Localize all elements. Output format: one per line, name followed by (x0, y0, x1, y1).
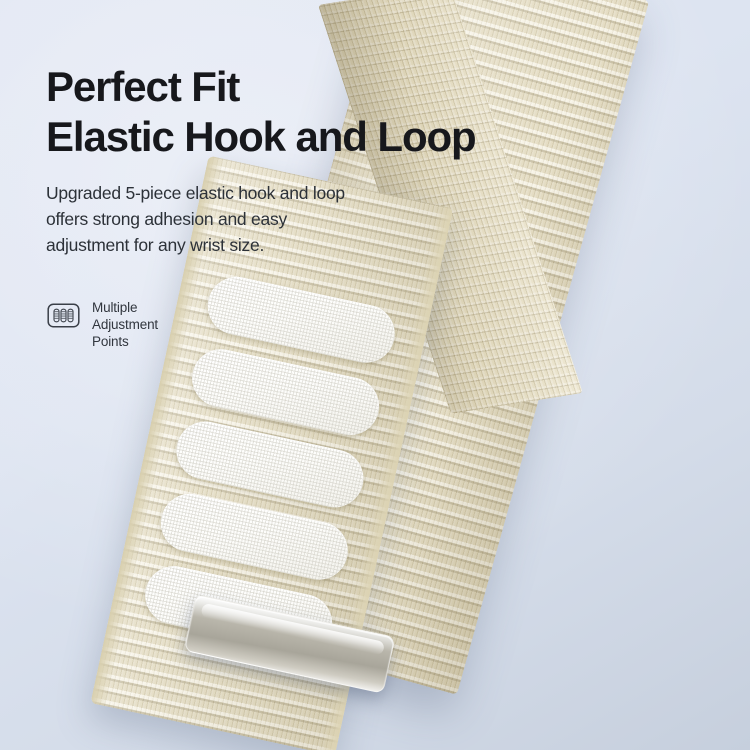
page-title: Perfect Fit Elastic Hook and Loop (46, 62, 516, 162)
body-line-1: Upgraded 5-piece elastic hook and loop (46, 180, 516, 206)
copy-block: Perfect Fit Elastic Hook and Loop Upgrad… (46, 62, 516, 258)
feature-line-1: Multiple (92, 299, 158, 316)
feature-line-3: Points (92, 333, 158, 350)
headline-line-1: Perfect Fit (46, 62, 516, 112)
feature-line-2: Adjustment (92, 316, 158, 333)
product-feature-banner: Perfect Fit Elastic Hook and Loop Upgrad… (0, 0, 750, 750)
body-line-2: offers strong adhesion and easy (46, 206, 516, 232)
body-description: Upgraded 5-piece elastic hook and loop o… (46, 180, 516, 258)
multiple-adjustment-points-icon (46, 298, 81, 333)
body-line-3: adjustment for any wrist size. (46, 232, 516, 258)
headline-line-2: Elastic Hook and Loop (46, 112, 516, 162)
feature-label: Multiple Adjustment Points (92, 298, 158, 350)
feature-badge: Multiple Adjustment Points (46, 298, 158, 350)
